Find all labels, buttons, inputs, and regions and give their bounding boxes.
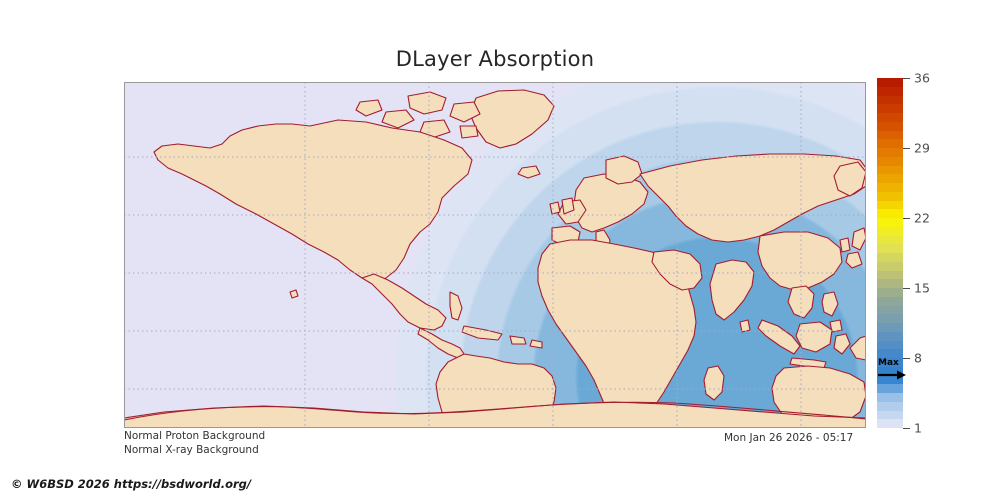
page-title: DLayer Absorption (0, 47, 990, 71)
colorbar-segment (877, 183, 903, 192)
colorbar-segment (877, 402, 903, 411)
colorbar-segment (877, 166, 903, 175)
colorbar-segment (877, 96, 903, 105)
world-map-axes[interactable] (124, 82, 866, 428)
colorbar-segment (877, 131, 903, 140)
colorbar-segment (877, 139, 903, 148)
timestamp-label: Mon Jan 26 2026 - 05:17 (724, 432, 853, 444)
colorbar-segment (877, 78, 903, 87)
colorbar-segment (877, 384, 903, 393)
colorbar-segment (877, 411, 903, 420)
world-map-svg (124, 82, 866, 428)
colorbar-segment (877, 332, 903, 341)
colorbar[interactable]: 1815222936 (877, 78, 903, 428)
colorbar-segment (877, 209, 903, 218)
colorbar-segment (877, 122, 903, 131)
colorbar-segment (877, 297, 903, 306)
colorbar-segment (877, 244, 903, 253)
colorbar-segment (877, 358, 903, 367)
colorbar-gradient (877, 78, 903, 428)
colorbar-segment (877, 349, 903, 358)
colorbar-segment (877, 288, 903, 297)
colorbar-segment (877, 148, 903, 157)
colorbar-segment (877, 419, 903, 428)
copyright-label: © W6BSD 2026 https://bsdworld.org/ (11, 477, 251, 491)
proton-background-status: Normal Proton Background (124, 430, 265, 442)
colorbar-segment (877, 367, 903, 376)
colorbar-segment (877, 393, 903, 402)
colorbar-segment (877, 201, 903, 210)
colorbar-segment (877, 306, 903, 315)
colorbar-segment (877, 271, 903, 280)
colorbar-segment (877, 157, 903, 166)
colorbar-tick (903, 428, 910, 429)
colorbar-segment (877, 87, 903, 96)
colorbar-segment (877, 174, 903, 183)
colorbar-segment (877, 341, 903, 350)
colorbar-segment (877, 323, 903, 332)
colorbar-segment (877, 192, 903, 201)
colorbar-axis-label: Affected Frequency (MHz) (906, 78, 1000, 428)
colorbar-segment (877, 227, 903, 236)
colorbar-segment (877, 113, 903, 122)
dlayer-absorption-figure: DLayer Absorption (0, 0, 1000, 500)
colorbar-segment (877, 253, 903, 262)
colorbar-segment (877, 376, 903, 385)
colorbar-segment (877, 279, 903, 288)
colorbar-segment (877, 218, 903, 227)
colorbar-segment (877, 314, 903, 323)
colorbar-segment (877, 262, 903, 271)
colorbar-segment (877, 104, 903, 113)
xray-background-status: Normal X-ray Background (124, 444, 259, 456)
colorbar-segment (877, 236, 903, 245)
